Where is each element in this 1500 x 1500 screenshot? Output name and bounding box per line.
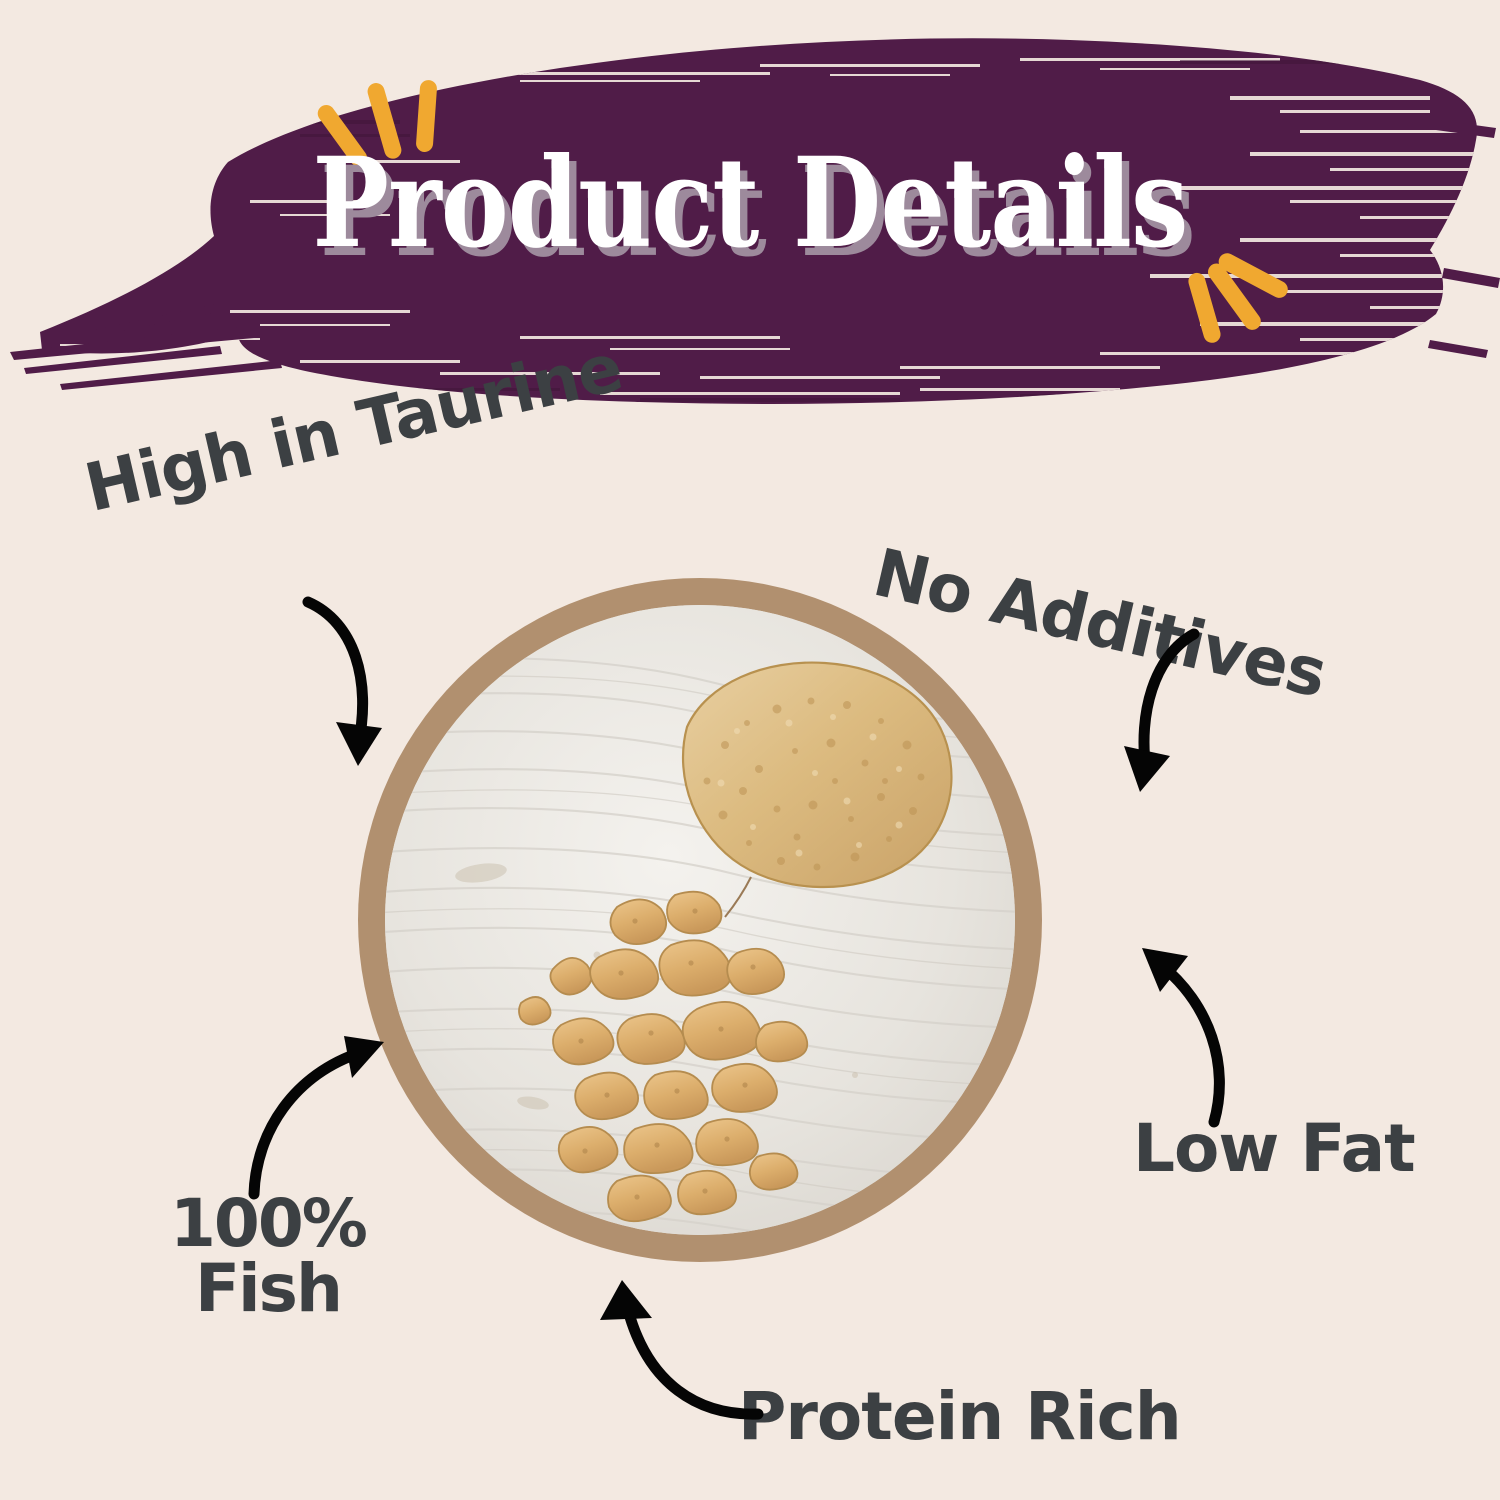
page-title: Product Details — [135, 142, 1365, 266]
infographic-canvas: Product Details — [0, 0, 1500, 1500]
arrow-icon-low-fat — [1118, 930, 1268, 1130]
feature-label-protein: Protein Rich — [738, 1378, 1181, 1455]
header-banner: Product Details — [0, 0, 1500, 430]
arrow-icon-fish — [232, 1028, 412, 1208]
feature-label-fish: 100% Fish — [170, 1192, 366, 1321]
feature-label-fish-line2: Fish — [170, 1257, 366, 1322]
product-photo-illustration — [385, 605, 1015, 1235]
arrow-icon-taurine — [290, 588, 450, 788]
arrow-icon-protein — [580, 1262, 770, 1432]
arrow-icon-additives — [1062, 620, 1222, 810]
product-photo — [385, 605, 1015, 1235]
product-photo-ring — [358, 578, 1042, 1262]
